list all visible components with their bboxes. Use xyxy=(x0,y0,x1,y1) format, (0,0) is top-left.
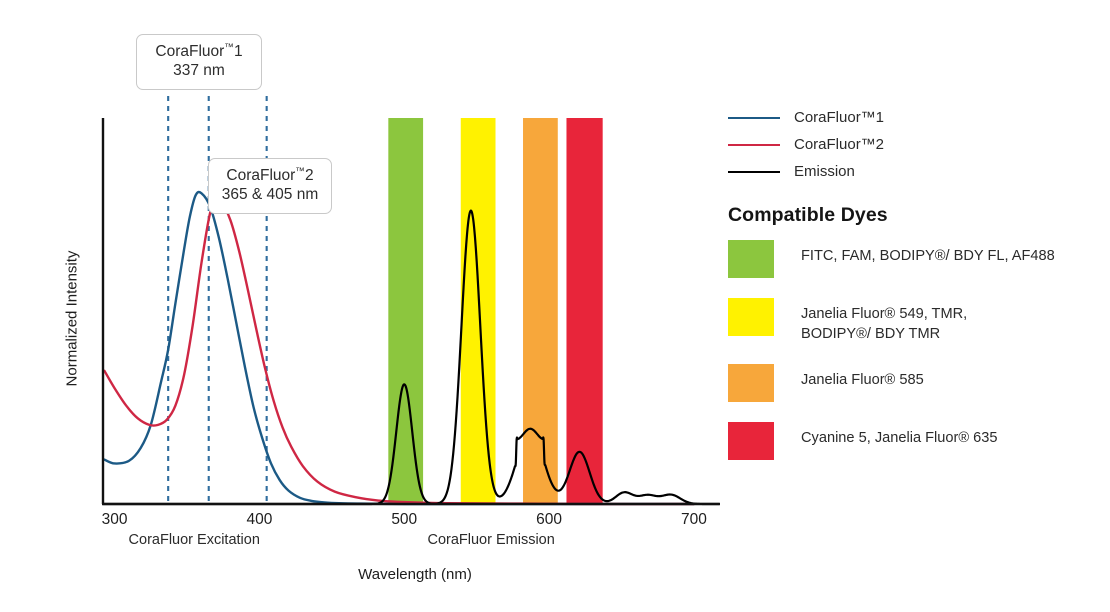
x-tick-700: 700 xyxy=(664,511,724,529)
callout-corafluor2-title: CoraFluor™2 xyxy=(221,166,319,186)
band-red xyxy=(566,118,602,504)
dye-color-swatch xyxy=(728,422,774,460)
dye-item-0: FITC, FAM, BODIPY®/ BDY FL, AF488 xyxy=(728,240,1098,278)
callout-corafluor1-value: 337 nm xyxy=(149,62,249,81)
x-tick-500: 500 xyxy=(374,511,434,529)
compatible-dyes-title: Compatible Dyes xyxy=(728,204,1098,227)
legend-line-swatch xyxy=(728,144,780,146)
band-orange xyxy=(523,118,558,504)
series-legend: CoraFluor™1CoraFluor™2Emission xyxy=(728,104,1098,185)
band-yellow xyxy=(461,118,496,504)
legend-item-2: Emission xyxy=(728,158,1098,185)
dye-label-line1: Janelia Fluor® 549, TMR, xyxy=(801,305,967,325)
callout-corafluor2-value: 365 & 405 nm xyxy=(221,186,319,205)
dye-item-3: Cyanine 5, Janelia Fluor® 635 xyxy=(728,422,1098,460)
dye-item-label: FITC, FAM, BODIPY®/ BDY FL, AF488 xyxy=(801,240,1055,267)
dye-color-swatch xyxy=(728,364,774,402)
region-label-emission: CoraFluor Emission xyxy=(391,532,591,548)
x-tick-600: 600 xyxy=(519,511,579,529)
dye-item-label: Janelia Fluor® 585 xyxy=(801,364,924,391)
chart-page: CoraFluor™1 337 nm CoraFluor™2 365 & 405… xyxy=(0,0,1110,612)
legend-line-swatch xyxy=(728,117,780,119)
dye-label-line1: Janelia Fluor® 585 xyxy=(801,371,924,391)
region-label-excitation: CoraFluor Excitation xyxy=(94,532,294,548)
dye-item-1: Janelia Fluor® 549, TMR,BODIPY®/ BDY TMR xyxy=(728,298,1098,344)
dye-item-label: Janelia Fluor® 549, TMR,BODIPY®/ BDY TMR xyxy=(801,298,967,344)
trademark-icon: ™ xyxy=(224,42,234,53)
dye-label-line1: Cyanine 5, Janelia Fluor® 635 xyxy=(801,429,998,449)
legend-item-label: Emission xyxy=(794,163,855,180)
dye-label-line1: FITC, FAM, BODIPY®/ BDY FL, AF488 xyxy=(801,247,1055,267)
x-tick-400: 400 xyxy=(229,511,289,529)
legend-item-0: CoraFluor™1 xyxy=(728,104,1098,131)
callout-corafluor1-title: CoraFluor™1 xyxy=(149,42,249,62)
legend-item-label: CoraFluor™1 xyxy=(794,109,884,126)
legend-item-label: CoraFluor™2 xyxy=(794,136,884,153)
compatible-dyes-list: FITC, FAM, BODIPY®/ BDY FL, AF488Janelia… xyxy=(728,240,1098,460)
dye-label-line2: BODIPY®/ BDY TMR xyxy=(801,325,967,345)
callout-corafluor1: CoraFluor™1 337 nm xyxy=(136,34,262,90)
dye-color-swatch xyxy=(728,298,774,336)
dye-color-swatch xyxy=(728,240,774,278)
legend-line-swatch xyxy=(728,171,780,173)
y-axis-title: Normalized Intensity xyxy=(64,229,81,409)
dye-item-2: Janelia Fluor® 585 xyxy=(728,364,1098,402)
dye-item-label: Cyanine 5, Janelia Fluor® 635 xyxy=(801,422,998,449)
x-axis-title: Wavelength (nm) xyxy=(0,566,830,583)
trademark-icon: ™ xyxy=(295,166,305,177)
band-green xyxy=(388,118,423,504)
legend-panel: CoraFluor™1CoraFluor™2Emission Compatibl… xyxy=(728,104,1098,480)
callout-corafluor2: CoraFluor™2 365 & 405 nm xyxy=(208,158,332,214)
legend-item-1: CoraFluor™2 xyxy=(728,131,1098,158)
x-tick-300: 300 xyxy=(85,511,145,529)
